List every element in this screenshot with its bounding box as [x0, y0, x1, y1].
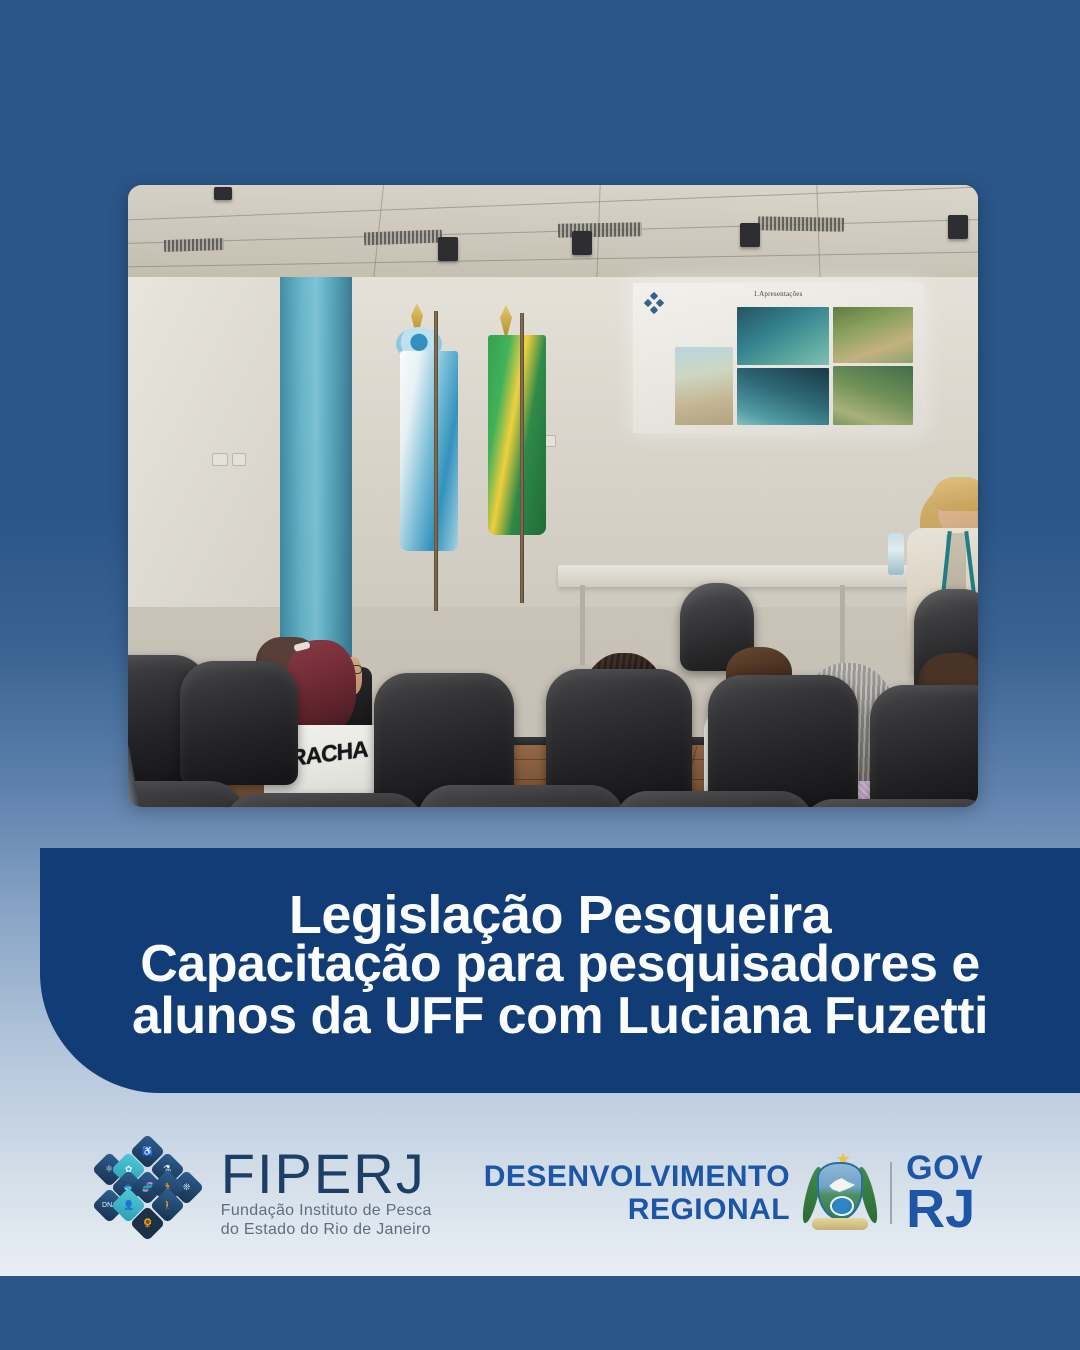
flagpole [520, 313, 524, 603]
presenter-hair-front [932, 477, 978, 511]
bottom-bar [0, 1276, 1080, 1350]
fiperj-logo: ♿ ⚗ ⚛ ✿ ❊ 🐟 🧬 🏃 DNA 👤 🚶 🌻 FIPERJ Fundaçã… [97, 1141, 432, 1245]
fiperj-wordmark-block: FIPERJ Fundação Instituto de Pesca do Es… [221, 1147, 432, 1239]
fiperj-slide-logo [643, 293, 665, 315]
dev-line-2: REGIONAL [628, 1193, 790, 1226]
slide-photo [833, 307, 913, 363]
fiperj-subtitle-line-1: Fundação Instituto de Pesca [221, 1201, 432, 1220]
ceiling-speaker-icon [948, 215, 968, 239]
dev-line-1: DESENVOLVIMENTO [484, 1160, 790, 1193]
crest-disc [830, 1196, 854, 1216]
ceiling-speaker-icon [572, 231, 592, 255]
divider [890, 1162, 892, 1224]
ceiling-speaker-icon [438, 237, 458, 261]
page-subtitle-line-2: alunos da UFF com Luciana Fuzetti [132, 989, 988, 1043]
ceiling-speaker-icon [740, 223, 760, 247]
desenvolvimento-regional-wordmark: DESENVOLVIMENTO REGIONAL [484, 1160, 790, 1226]
page-subtitle-line-1: Capacitação para pesquisadores e [140, 937, 980, 991]
chair [180, 661, 298, 785]
crest-ribbon [812, 1218, 868, 1230]
slide-photo [737, 368, 829, 425]
gov-rj-wordmark: GOV RJ [906, 1152, 983, 1234]
projection-screen: 1.Apresentações [633, 283, 923, 433]
gov-rj-logo: DESENVOLVIMENTO REGIONAL GOV RJ [484, 1150, 984, 1236]
chair [418, 785, 624, 807]
fiperj-diamond-mark: ♿ ⚗ ⚛ ✿ ❊ 🐟 🧬 🏃 DNA 👤 🚶 🌻 [97, 1141, 205, 1245]
chair [800, 799, 978, 807]
ceiling-speaker-icon [214, 187, 232, 200]
event-photo: 1.Apresentações [128, 185, 978, 807]
ceiling [128, 185, 978, 281]
left-wall [128, 277, 288, 607]
chair [224, 793, 424, 807]
blue-column [280, 277, 352, 677]
slide-title: 1.Apresentações [753, 290, 802, 298]
fiperj-subtitle-line-2: do Estado do Rio de Janeiro [221, 1220, 432, 1239]
slide-photo [737, 307, 829, 365]
slide-photo [675, 347, 733, 425]
slide-photo-grid [675, 307, 913, 425]
flag-brazil [488, 335, 546, 535]
wall-socket [232, 453, 246, 466]
slide-photo [833, 366, 913, 425]
chair [614, 791, 814, 807]
chair [128, 781, 244, 807]
condor-icon [829, 1178, 855, 1192]
water-bottle [888, 533, 904, 575]
chair [708, 675, 858, 807]
rio-de-janeiro-state-crest [804, 1150, 876, 1236]
chair [870, 685, 978, 807]
footer-logos: ♿ ⚗ ⚛ ✿ ❊ 🐟 🧬 🏃 DNA 👤 🚶 🌻 FIPERJ Fundaçã… [0, 1118, 1080, 1268]
fiperj-wordmark: FIPERJ [221, 1147, 432, 1201]
rj-word: RJ [906, 1184, 983, 1234]
title-banner: Legislação Pesqueira Capacitação para pe… [40, 848, 1080, 1093]
flagpole [434, 311, 438, 611]
flag-rio-de-janeiro [400, 351, 458, 551]
wall-socket [212, 453, 228, 466]
